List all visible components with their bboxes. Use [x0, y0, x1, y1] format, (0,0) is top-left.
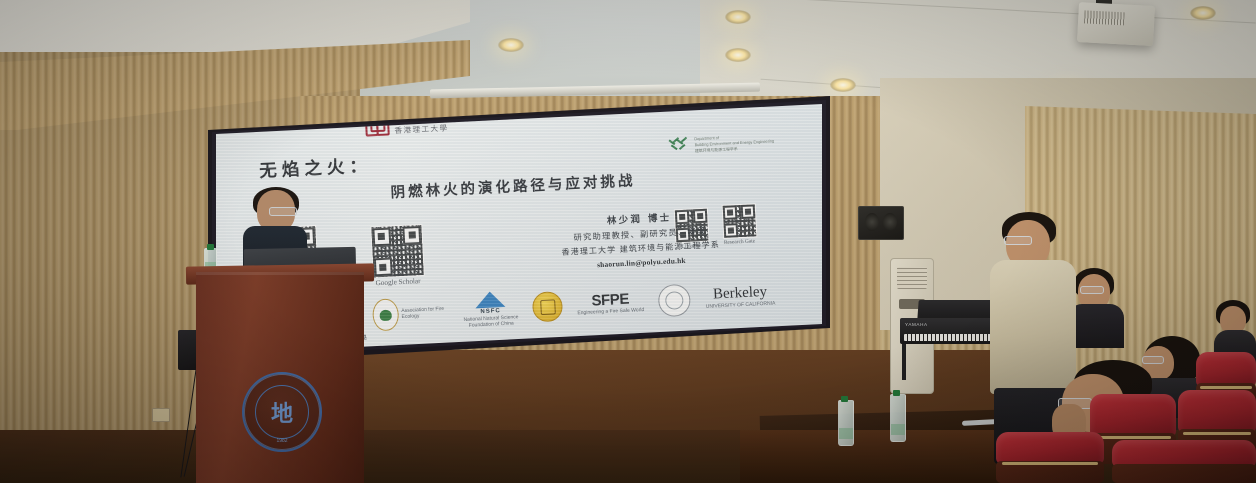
slide-title-part2: 阴燃林火的演化路径与应对挑战 — [390, 162, 791, 203]
sponsor-logo-fire-ecology: Association for Fire Ecology — [372, 296, 451, 332]
speaker-info-block: 林少润 博士 研究助理教授、副研究员、博导 香港理工大学 建筑环境与能源工程学系… — [514, 205, 766, 273]
podium-university-seal: 地 1982 — [242, 372, 322, 452]
auditorium-seat[interactable] — [996, 432, 1104, 483]
seat-cushion — [1196, 352, 1256, 387]
downlight — [725, 48, 751, 62]
downlight — [1190, 6, 1216, 20]
auditorium-seat[interactable] — [1112, 440, 1256, 483]
qr-code-google-scholar[interactable] — [370, 224, 425, 279]
seat-cushion — [1178, 390, 1256, 433]
downlight — [725, 10, 751, 24]
bottle-cap — [893, 390, 900, 396]
sponsor-logo-circular-seal — [656, 284, 694, 318]
seat-trim — [1002, 462, 1097, 465]
wall-outlet — [152, 408, 170, 422]
downlight — [498, 38, 524, 52]
nsfc-icon — [475, 291, 506, 308]
seat-cushion — [996, 432, 1104, 464]
water-bottle-desk-left — [838, 400, 854, 446]
ceiling-projector — [1077, 2, 1155, 46]
lecture-hall-photo: THE HONG KONG POLYTECHNIC UNIVERSITY 香港理… — [0, 0, 1256, 483]
piano-music-rest — [917, 300, 992, 320]
sponsor-logo-berkeley: Berkeley UNIVERSITY OF CALIFORNIA — [701, 279, 780, 315]
speaker-cone-icon — [883, 213, 897, 231]
seat-arm — [1112, 464, 1256, 483]
seat-cushion — [1112, 440, 1256, 467]
slide-title: 无焰之火： 阴燃林火的演化路径与应对挑战 — [259, 132, 791, 209]
ac-grill — [897, 267, 927, 289]
circular-seal-icon — [658, 284, 692, 318]
speaker-cone-icon — [865, 213, 879, 231]
seal-year: 1982 — [244, 438, 320, 444]
bottle-cap — [841, 396, 848, 402]
audience-member-far-right — [1214, 300, 1256, 360]
water-bottle-desk-right — [890, 394, 906, 442]
piano-brand-label: YAMAHA — [905, 322, 928, 327]
bottle-label — [891, 424, 905, 435]
downlight — [830, 78, 856, 92]
bottle-cap — [207, 244, 214, 250]
sponsor-logo-sfpe: SFPE Engineering a Fire Safe World — [573, 286, 648, 322]
person-glasses — [1004, 236, 1032, 245]
person-torso — [1068, 304, 1124, 348]
person-glasses — [1080, 286, 1104, 294]
audience-member-behind — [1068, 268, 1124, 344]
fire-ecology-icon — [372, 298, 399, 331]
seat-cushion — [1090, 394, 1176, 437]
wall-speaker — [858, 206, 904, 240]
piano-keys[interactable] — [904, 334, 1004, 341]
seat-trim — [1183, 432, 1252, 435]
presenter-glasses — [269, 207, 297, 216]
bottle-label — [839, 428, 853, 439]
seat-trim — [1095, 436, 1171, 439]
seat-trim — [1200, 386, 1253, 389]
projector-vent — [1084, 10, 1125, 25]
sponsor-logo-gold-seal — [530, 290, 566, 324]
slide-title-part1: 无焰之火： — [259, 152, 373, 183]
sponsor-logo-nsfc: NSFC National Natural Science Foundation… — [459, 292, 523, 327]
gold-seal-icon — [532, 291, 563, 322]
